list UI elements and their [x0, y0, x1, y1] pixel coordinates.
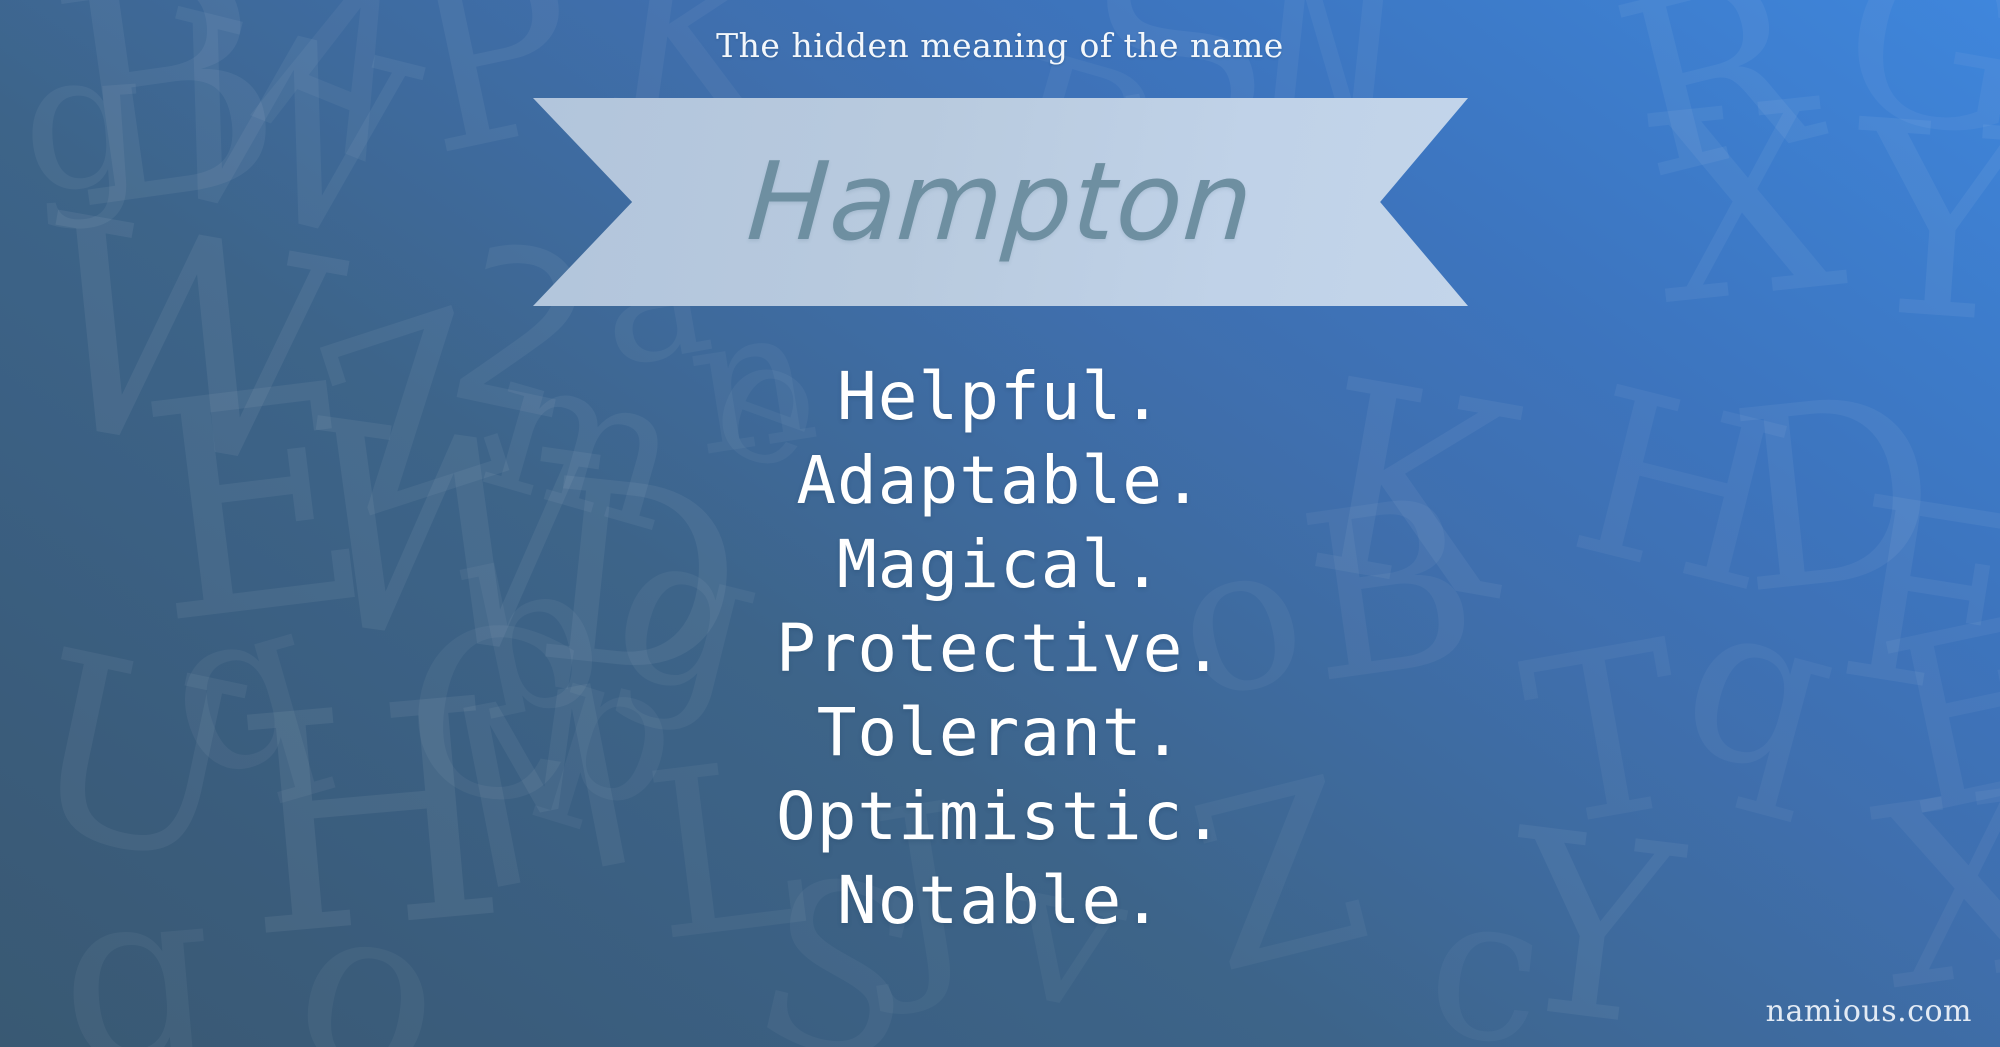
trait-item: Tolerant.: [0, 691, 2000, 775]
trait-item: Magical.: [0, 523, 2000, 607]
name-meaning-card: BWgAPKSNRGYXWEma2ZDneWbgHUqCMpLKBHDFEqTY…: [0, 0, 2000, 1047]
trait-item: Adaptable.: [0, 439, 2000, 523]
trait-item: Notable.: [0, 859, 2000, 943]
texture-letter: Y: [1848, 112, 2000, 336]
trait-item: Helpful.: [0, 355, 2000, 439]
name-ribbon-banner: Hampton: [533, 98, 1468, 306]
trait-item: Protective.: [0, 607, 2000, 691]
texture-letter: X: [1645, 91, 1851, 317]
trait-list: Helpful. Adaptable. Magical. Protective.…: [0, 355, 2000, 943]
texture-letter: G: [1830, 0, 2000, 154]
page-title: The hidden meaning of the name: [0, 26, 2000, 65]
texture-letter: P: [397, 0, 595, 167]
site-watermark: namious.com: [1766, 994, 1972, 1029]
name-text: Hampton: [744, 140, 1258, 265]
trait-item: Optimistic.: [0, 775, 2000, 859]
